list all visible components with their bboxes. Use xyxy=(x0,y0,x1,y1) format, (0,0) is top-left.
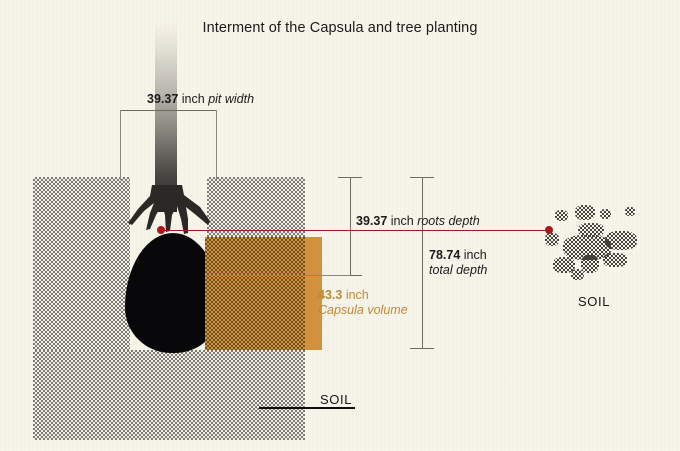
pit-hatching-bottom xyxy=(33,350,305,440)
total-depth-value: 78.74 xyxy=(429,248,460,262)
roots-depth-label: 39.37 inch roots depth xyxy=(356,214,480,228)
capsula-volume-unit: inch xyxy=(346,288,369,302)
capsula-volume-label: 43.3 inch Capsula volume xyxy=(318,288,408,318)
total-depth-cap-bottom xyxy=(410,348,434,349)
roots-depth-dimension-line xyxy=(350,177,351,275)
total-depth-label: 78.74 inch total depth xyxy=(429,248,487,278)
pit-width-tick-right xyxy=(216,110,217,180)
capsula-volume-caption: Capsula volume xyxy=(318,303,408,318)
pit-width-dimension-line xyxy=(120,110,216,111)
soil-clump-label: SOIL xyxy=(578,294,610,309)
capsula-pointer-line xyxy=(161,230,549,231)
pit-width-label: 39.37 inch pit width xyxy=(147,92,254,106)
pit-width-unit: inch xyxy=(182,92,205,106)
total-depth-unit: inch xyxy=(464,248,487,262)
page-title: Interment of the Capsula and tree planti… xyxy=(0,20,680,36)
pit-width-value: 39.37 xyxy=(147,92,178,106)
roots-depth-unit: inch xyxy=(391,214,414,228)
pit-width-caption: pit width xyxy=(208,92,254,106)
tree-trunk xyxy=(155,22,177,212)
soil-ground-label: SOIL xyxy=(320,392,352,407)
tree-roots xyxy=(122,185,212,235)
pit-width-tick-left xyxy=(120,110,121,180)
capsula-volume-value: 43.3 xyxy=(318,288,342,302)
diagram-canvas: Interment of the Capsula and tree planti… xyxy=(0,0,680,451)
capsula-volume-leader-line xyxy=(205,275,350,276)
total-depth-dimension-line xyxy=(422,177,423,348)
capsula-volume-block-hatched xyxy=(205,237,305,350)
soil-ground-underline xyxy=(259,407,355,409)
roots-depth-value: 39.37 xyxy=(356,214,387,228)
roots-depth-caption: roots depth xyxy=(417,214,480,228)
soil-clump-icon xyxy=(545,205,655,285)
total-depth-caption: total depth xyxy=(429,263,487,278)
